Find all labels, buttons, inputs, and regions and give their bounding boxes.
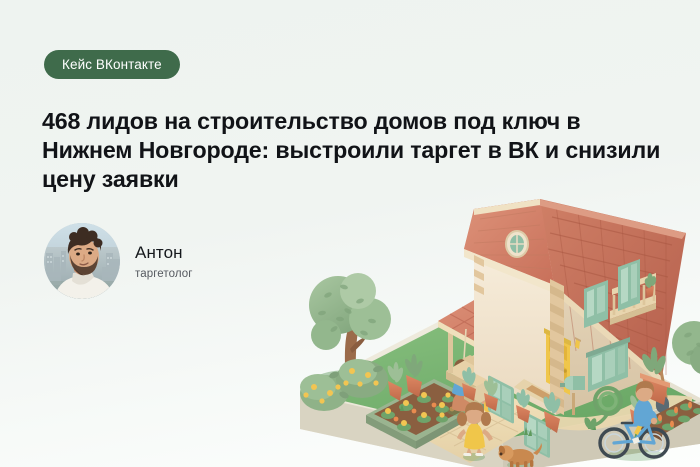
author-info: Антон таргетолог [135,243,193,280]
round-attic-window [506,231,528,257]
page-title: 468 лидов на строительство домов под клю… [42,107,662,194]
author-name: Антон [135,243,193,263]
author-block: Антон таргетолог [44,223,193,299]
case-category-badge[interactable]: Кейс ВКонтакте [44,50,180,79]
avatar [44,223,120,299]
author-role: таргетолог [135,268,193,280]
avatar-photo [44,223,120,299]
bush-right [672,321,700,375]
case-study-cover: Кейс ВКонтакте 468 лидов на строительств… [0,0,700,467]
